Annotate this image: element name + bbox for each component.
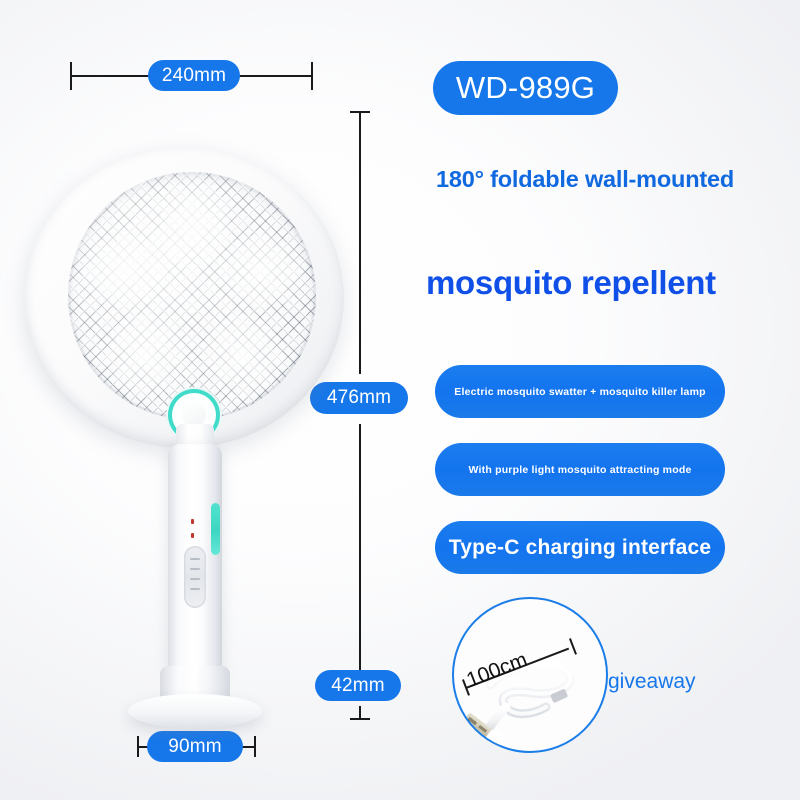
sku-badge: WD-989G (433, 61, 618, 115)
led-indicator-bottom (191, 533, 194, 538)
sub-headline: 180° foldable wall-mounted (436, 166, 786, 193)
racket-mesh-area (68, 172, 316, 420)
product-photo-mosquito-swatter (0, 0, 380, 800)
feature-pill-2: With purple light mosquito attracting mo… (435, 443, 725, 496)
giveaway-cable-circle: 100cm (452, 597, 608, 753)
power-switch-button[interactable] (211, 503, 220, 555)
main-headline: mosquito repellent (426, 264, 786, 302)
mesh-sheen (68, 172, 316, 420)
feature-pill-3: Type-C charging interface (435, 521, 725, 574)
product-marketing-image: 240mm 476mm 42mm 90mm (0, 0, 800, 800)
battery-indicator-panel (184, 546, 206, 608)
feature-pill-1: Electric mosquito swatter + mosquito kil… (435, 365, 725, 418)
giveaway-label: giveaway (608, 670, 696, 694)
wall-mount-base (128, 694, 262, 728)
led-indicator-top (191, 519, 194, 524)
